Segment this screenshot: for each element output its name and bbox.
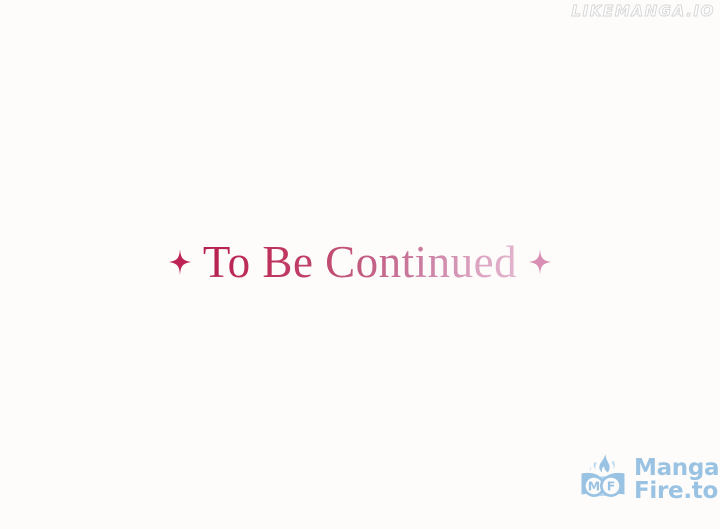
logo-text-line-2: Fire.to [634, 479, 719, 503]
svg-text:M: M [588, 479, 600, 494]
mangafire-logo[interactable]: M F Manga Fire.to [578, 450, 714, 508]
sparkle-icon-left [169, 249, 191, 275]
comic-page-canvas: LIKEMANGA.IO To Be Continued M [0, 0, 720, 529]
to-be-continued-text: To Be Continued [203, 236, 517, 288]
logo-text-line-1: Manga [634, 456, 719, 480]
open-book-flame-mf-icon: M F [578, 453, 628, 505]
mangafire-logo-text: Manga Fire.to [634, 456, 719, 503]
likemanga-watermark: LIKEMANGA.IO [571, 2, 715, 20]
svg-text:F: F [607, 479, 616, 494]
to-be-continued-block: To Be Continued [0, 234, 720, 290]
sparkle-icon-right [529, 249, 551, 275]
